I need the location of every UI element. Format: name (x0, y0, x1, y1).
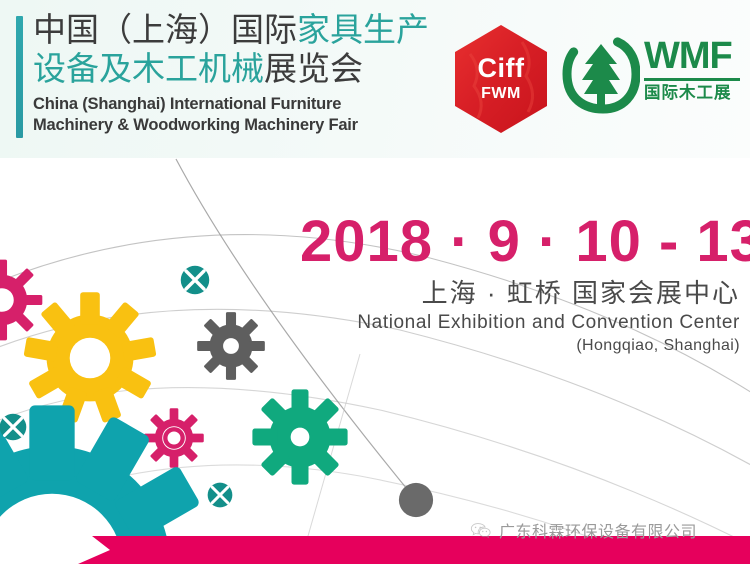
title-cn-line2-teal-b: 木工机械 (132, 50, 264, 87)
title-cn-line2-teal-a: 设备及 (33, 50, 132, 87)
poster-header: 中国（上海）国际家具生产 设备及木工机械展览会 China (Shanghai)… (0, 0, 750, 158)
wmf-tree-circle-icon (562, 34, 640, 114)
venue-english: National Exhibition and Convention Cente… (300, 310, 740, 335)
ciff-logo: Ciff FWM (452, 24, 550, 134)
gear-gray (195, 310, 267, 382)
event-poster: 中国（上海）国际家具生产 设备及木工机械展览会 China (Shanghai)… (0, 0, 750, 564)
title-en-line1: China (Shanghai) International Furniture (33, 94, 438, 115)
title-cn-line1-teal: 家具生产 (297, 11, 429, 48)
event-info-block: 2018 · 9 · 10 - 13 上海 · 虹桥 国家会展中心 Nation… (300, 212, 740, 357)
wmf-wordmark-block: WMF 国际木工展 (644, 36, 740, 103)
wechat-account-name: 广东科霖环保设备有限公司 (499, 518, 697, 542)
title-cn-line2: 设备及木工机械展览会 (33, 49, 438, 88)
venue-english-sub: (Hongqiao, Shanghai) (300, 335, 740, 357)
wmf-divider (644, 78, 740, 81)
accent-bar (16, 16, 23, 138)
wmf-logo: WMF 国际木工展 (562, 32, 740, 128)
wechat-icon (470, 522, 492, 539)
title-cn-line1: 中国（上海）国际家具生产 (33, 10, 438, 49)
ciff-sub-text: FWM (481, 84, 521, 104)
venue-chinese: 上海 · 虹桥 国家会展中心 (300, 276, 740, 310)
dot-teal-cross-2 (0, 413, 27, 441)
title-block: 中国（上海）国际家具生产 设备及木工机械展览会 China (Shanghai)… (33, 10, 438, 136)
title-cn-line2-dark: 展览会 (264, 50, 363, 87)
wechat-attribution[interactable]: 广东科霖环保设备有限公司 (470, 515, 740, 545)
dot-teal-cross-1 (180, 265, 210, 295)
wmf-chinese-text: 国际木工展 (644, 84, 740, 103)
title-en-block: China (Shanghai) International Furniture… (33, 94, 438, 136)
gear-green (249, 386, 351, 488)
title-cn-line1-dark: 中国（上海）国际 (33, 11, 297, 48)
ciff-main-text: Ciff (478, 55, 525, 82)
title-en-line2: Machinery & Woodworking Machinery Fair (33, 115, 438, 136)
event-date: 2018 · 9 · 10 - 13 (300, 212, 740, 272)
ciff-logo-text: Ciff FWM (452, 24, 550, 134)
wmf-wordmark: WMF (644, 36, 740, 76)
dot-teal-cross-3 (207, 482, 233, 508)
dot-gray-solid (398, 482, 434, 518)
